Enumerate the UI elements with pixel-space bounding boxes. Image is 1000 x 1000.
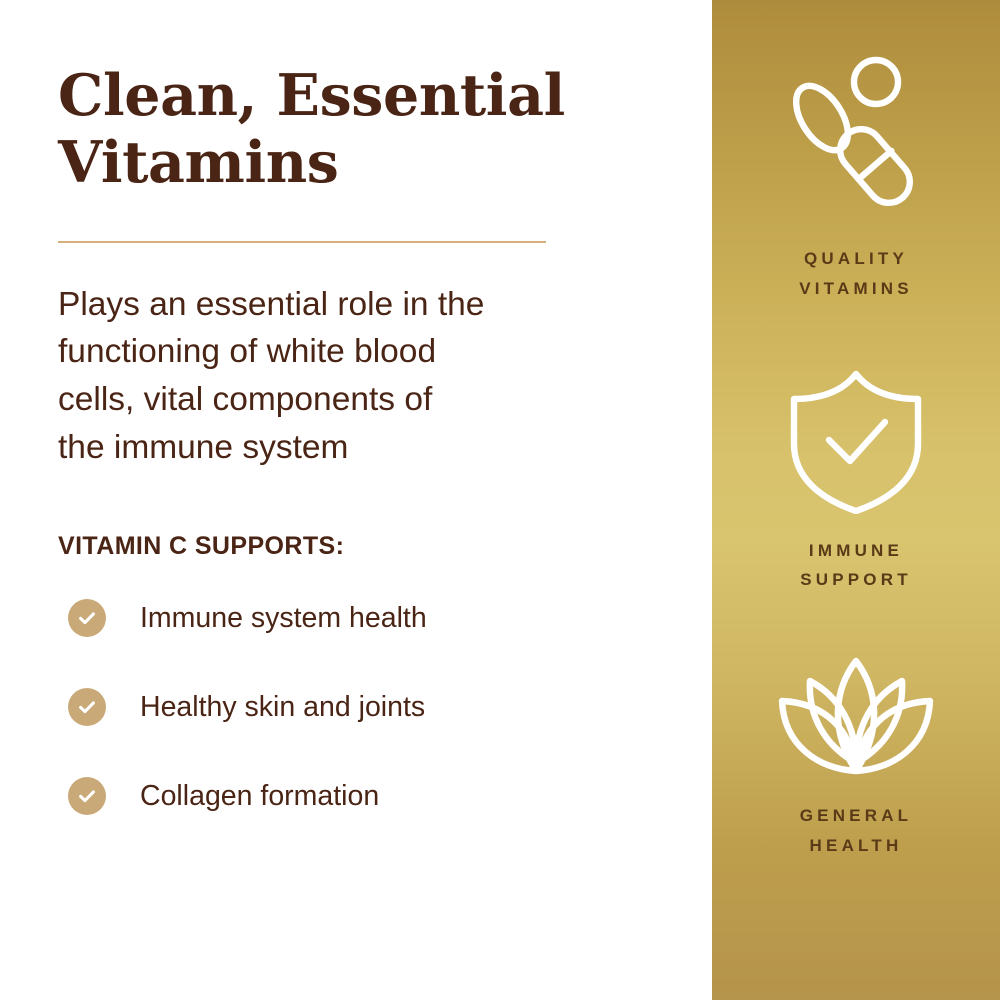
supports-heading: VITAMIN C SUPPORTS: [58, 472, 712, 561]
check-icon [68, 688, 106, 726]
feature-general-health-label: GENERAL HEALTH [800, 801, 913, 861]
list-item: Immune system health [68, 599, 712, 637]
lede-line-2: functioning of white blood [58, 328, 598, 376]
lotus-icon [772, 653, 940, 779]
feature-label-line-2: VITAMINS [799, 274, 913, 304]
feature-label-line-2: HEALTH [800, 831, 913, 861]
list-item: Healthy skin and joints [68, 688, 712, 726]
shield-check-icon [785, 366, 927, 514]
feature-quality-vitamins: QUALITY VITAMINS [712, 52, 1000, 304]
lede-paragraph: Plays an essential role in the functioni… [58, 243, 598, 473]
lede-line-3: cells, vital components of [58, 376, 598, 424]
check-icon [68, 599, 106, 637]
feature-label-line-2: SUPPORT [800, 565, 912, 595]
list-item-label: Collagen formation [140, 779, 379, 813]
lede-line-4: the immune system [58, 424, 598, 472]
marketing-panel: Clean, Essential Vitamins Plays an essen… [0, 0, 1000, 1000]
page-title: Clean, Essential Vitamins [58, 0, 658, 197]
feature-immune-support-label: IMMUNE SUPPORT [800, 536, 912, 596]
feature-label-line-1: QUALITY [799, 244, 913, 274]
feature-label-line-1: IMMUNE [800, 536, 912, 566]
list-item-label: Immune system health [140, 601, 427, 635]
feature-general-health: GENERAL HEALTH [712, 653, 1000, 861]
features-sidebar: QUALITY VITAMINS IMMUNE SUPPORT [712, 0, 1000, 1000]
list-item-label: Healthy skin and joints [140, 690, 425, 724]
list-item: Collagen formation [68, 777, 712, 815]
check-icon [68, 777, 106, 815]
feature-immune-support: IMMUNE SUPPORT [712, 366, 1000, 596]
benefits-list: Immune system health Healthy skin and jo… [58, 561, 712, 815]
content-column: Clean, Essential Vitamins Plays an essen… [0, 0, 712, 1000]
lede-line-1: Plays an essential role in the [58, 281, 598, 329]
page-title-line-1: Clean, Essential [58, 62, 658, 129]
feature-label-line-1: GENERAL [800, 801, 913, 831]
page-title-line-2: Vitamins [58, 129, 658, 196]
feature-quality-vitamins-label: QUALITY VITAMINS [799, 244, 913, 304]
pills-icon [776, 52, 936, 222]
